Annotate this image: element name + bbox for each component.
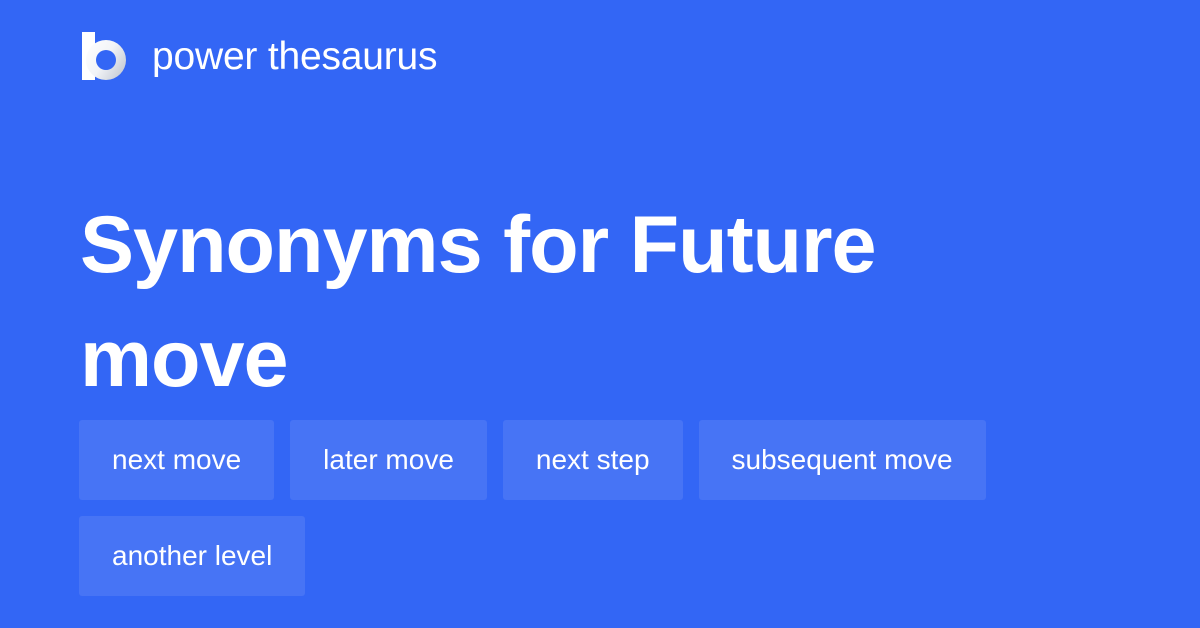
synonym-tag[interactable]: subsequent move	[699, 420, 986, 500]
power-thesaurus-logo-icon	[80, 30, 132, 82]
brand-name: power thesaurus	[152, 37, 437, 76]
brand-header[interactable]: power thesaurus	[80, 28, 437, 84]
synonym-tag-list: next move later move next step subsequen…	[79, 420, 1119, 596]
synonym-tag[interactable]: next move	[79, 420, 274, 500]
page-title: Synonyms for Future move	[80, 188, 1080, 416]
synonym-tag[interactable]: another level	[79, 516, 305, 596]
synonym-tag[interactable]: next step	[503, 420, 683, 500]
synonym-tag[interactable]: later move	[290, 420, 487, 500]
share-card: power thesaurus Synonyms for Future move…	[0, 0, 1200, 628]
